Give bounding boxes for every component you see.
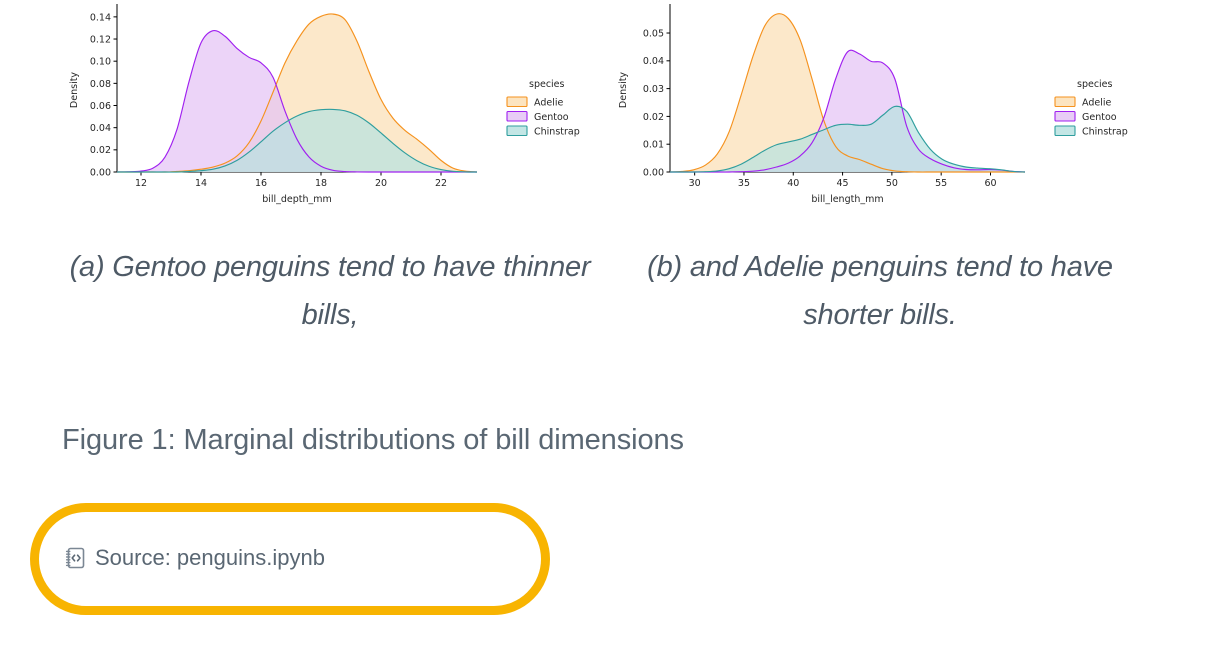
- svg-text:0.06: 0.06: [90, 101, 111, 112]
- svg-text:Density: Density: [618, 72, 629, 108]
- svg-text:0.03: 0.03: [643, 84, 664, 95]
- caption-subfigure-a: (a) Gentoo penguins tend to have thinner…: [60, 243, 600, 339]
- svg-text:species: species: [1077, 79, 1113, 90]
- svg-text:species: species: [529, 79, 565, 90]
- svg-text:0.12: 0.12: [90, 34, 111, 45]
- svg-text:55: 55: [935, 178, 947, 189]
- source-label: Source: penguins.ipynb: [95, 545, 325, 571]
- svg-text:Gentoo: Gentoo: [534, 112, 569, 123]
- svg-text:0.02: 0.02: [643, 112, 664, 123]
- bill-length-kde-plot: 0.000.010.020.030.040.05Density303540455…: [600, 0, 1155, 215]
- svg-text:22: 22: [435, 178, 447, 189]
- svg-text:Gentoo: Gentoo: [1082, 112, 1117, 123]
- svg-text:14: 14: [195, 178, 207, 189]
- svg-text:30: 30: [689, 178, 701, 189]
- svg-text:bill_length_mm: bill_length_mm: [811, 194, 883, 205]
- notebook-code-icon: [64, 546, 86, 570]
- svg-text:45: 45: [837, 178, 849, 189]
- svg-text:0.10: 0.10: [90, 57, 111, 68]
- svg-text:Adelie: Adelie: [534, 97, 563, 108]
- figure-panels: 0.000.020.040.060.080.100.120.14Density1…: [0, 0, 1215, 220]
- figure-title: Figure 1: Marginal distributions of bill…: [62, 424, 684, 457]
- svg-text:0.04: 0.04: [90, 123, 111, 134]
- bill-depth-kde-plot: 0.000.020.040.060.080.100.120.14Density1…: [55, 0, 600, 215]
- svg-text:0.02: 0.02: [90, 145, 111, 156]
- svg-text:Chinstrap: Chinstrap: [534, 126, 580, 137]
- svg-text:0.05: 0.05: [643, 28, 664, 39]
- svg-text:0.04: 0.04: [643, 56, 664, 67]
- svg-text:50: 50: [886, 178, 898, 189]
- caption-subfigure-b: (b) and Adelie penguins tend to have sho…: [600, 243, 1160, 339]
- caption-row: (a) Gentoo penguins tend to have thinner…: [0, 243, 1215, 353]
- svg-text:16: 16: [255, 178, 267, 189]
- svg-text:12: 12: [135, 178, 147, 189]
- subfigure-b: 0.000.010.020.030.040.05Density303540455…: [600, 0, 1155, 215]
- subfigure-a: 0.000.020.040.060.080.100.120.14Density1…: [55, 0, 600, 215]
- svg-text:Density: Density: [69, 72, 80, 108]
- source-link[interactable]: Source: penguins.ipynb: [64, 545, 325, 571]
- svg-text:bill_depth_mm: bill_depth_mm: [262, 194, 332, 205]
- svg-text:0.00: 0.00: [90, 167, 111, 178]
- svg-text:40: 40: [787, 178, 799, 189]
- svg-text:20: 20: [375, 178, 387, 189]
- svg-text:35: 35: [738, 178, 750, 189]
- svg-text:0.00: 0.00: [643, 167, 664, 178]
- svg-text:0.08: 0.08: [90, 79, 111, 90]
- svg-text:Chinstrap: Chinstrap: [1082, 126, 1128, 137]
- svg-text:0.14: 0.14: [90, 12, 111, 23]
- svg-text:Adelie: Adelie: [1082, 97, 1111, 108]
- svg-text:18: 18: [315, 178, 327, 189]
- svg-text:0.01: 0.01: [643, 140, 664, 151]
- svg-text:60: 60: [984, 178, 996, 189]
